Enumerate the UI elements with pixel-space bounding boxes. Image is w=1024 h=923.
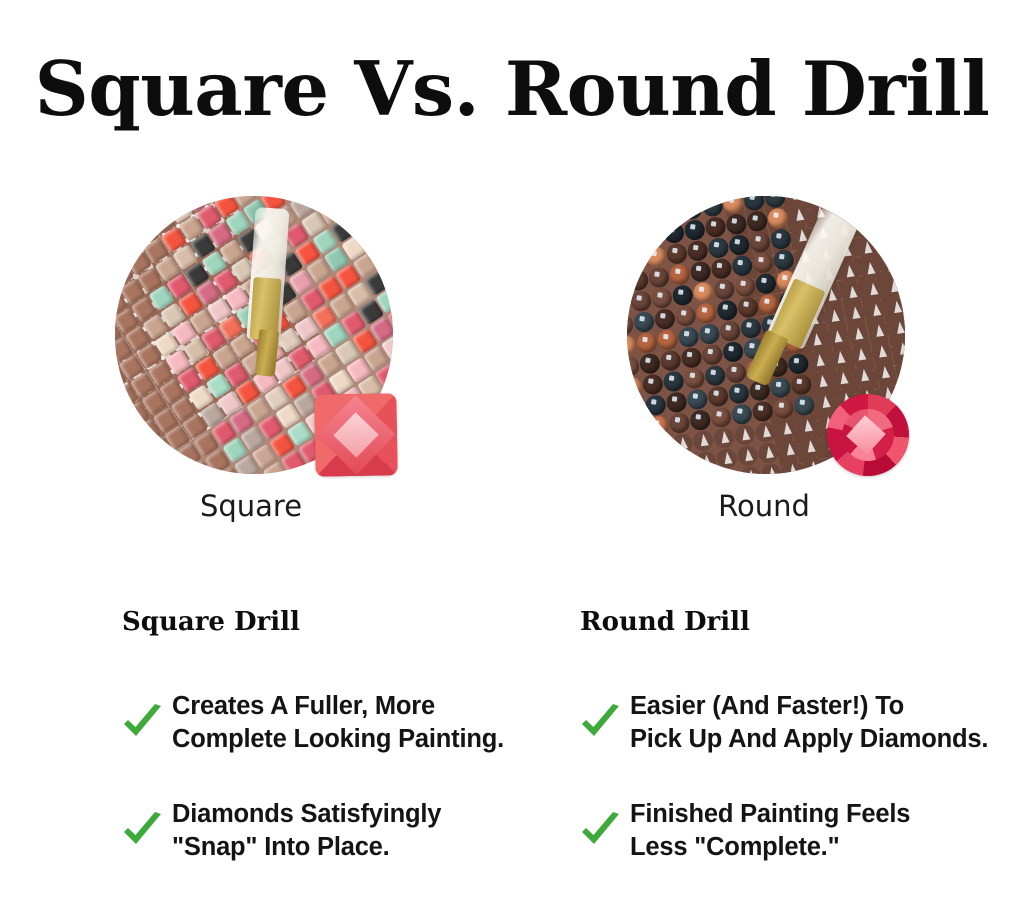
- square-gem-icon: [314, 393, 397, 476]
- list-item-label: Diamonds Satisfyingly "Snap" Into Place.: [172, 798, 441, 864]
- list-item-label: Easier (And Faster!) To Pick Up And Appl…: [630, 690, 988, 756]
- list-item: Creates A Fuller, More Complete Looking …: [120, 690, 580, 756]
- photo-caption-row: Square Round: [0, 488, 1024, 528]
- page-title: Square Vs. Round Drill: [0, 46, 1024, 132]
- column-heading-round: Round Drill: [580, 606, 1024, 638]
- column-square-drill: Square Drill Creates A Fuller, More Comp…: [120, 606, 580, 906]
- list-item-label: Creates A Fuller, More Complete Looking …: [172, 690, 504, 756]
- list-item: Easier (And Faster!) To Pick Up And Appl…: [578, 690, 1024, 756]
- list-item: Diamonds Satisfyingly "Snap" Into Place.: [120, 798, 580, 864]
- check-icon: [578, 701, 622, 745]
- comparison-columns: Square Drill Creates A Fuller, More Comp…: [0, 606, 1024, 886]
- list-item: Finished Painting Feels Less "Complete.": [578, 798, 1024, 864]
- round-photo-wrap: [627, 196, 909, 478]
- square-photo-cell: [0, 196, 512, 496]
- column-heading-square: Square Drill: [122, 606, 580, 638]
- square-photo-wrap: [115, 196, 397, 478]
- list-item-label: Finished Painting Feels Less "Complete.": [630, 798, 910, 864]
- infographic-page: { "title": "Square Vs. Round Drill", "co…: [0, 0, 1024, 923]
- check-icon: [578, 809, 622, 853]
- caption-square: Square: [0, 488, 507, 524]
- check-icon: [120, 701, 164, 745]
- photo-comparison-row: [0, 196, 1024, 496]
- round-photo-cell: [512, 196, 1024, 496]
- caption-round: Round: [508, 488, 1020, 524]
- check-icon: [120, 809, 164, 853]
- column-round-drill: Round Drill Easier (And Faster!) To Pick…: [578, 606, 1024, 906]
- round-gem-icon: [827, 394, 909, 476]
